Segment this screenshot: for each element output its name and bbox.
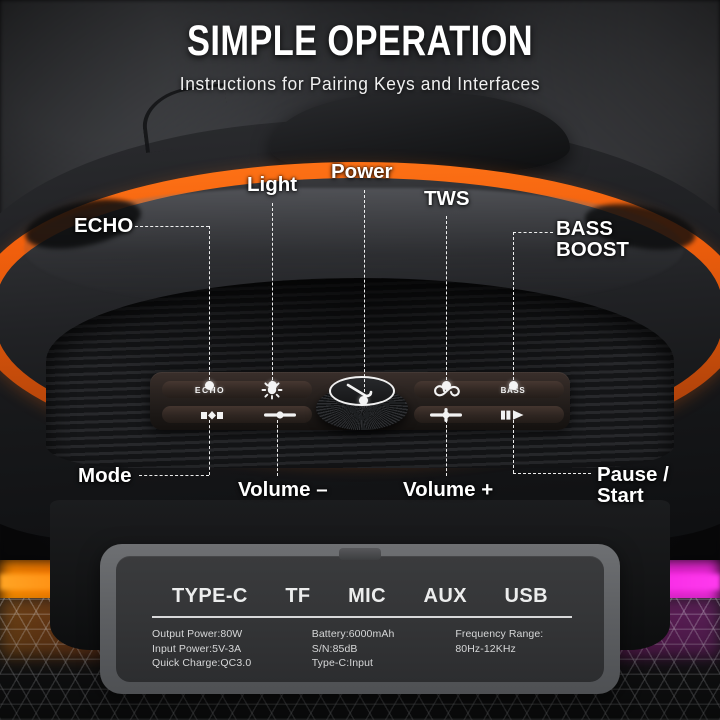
port-label-row: TYPE-C TF MIC AUX USB <box>126 580 594 612</box>
spec-columns: Output Power:80W Input Power:5V-3A Quick… <box>152 628 572 676</box>
callout-volume-down: Volume – <box>238 479 328 500</box>
spec-panel-tab <box>339 548 381 560</box>
leader-mode-v <box>209 420 210 475</box>
leader-light-v <box>272 203 273 385</box>
callout-light: Light <box>247 174 297 195</box>
spec-line: Type-C:Input <box>312 657 456 671</box>
infographic-canvas: SIMPLE OPERATION Instructions for Pairin… <box>0 0 720 720</box>
header: SIMPLE OPERATION Instructions for Pairin… <box>0 18 720 95</box>
spec-line: Input Power:5V-3A <box>152 643 312 657</box>
spec-line: Quick Charge:QC3.0 <box>152 657 312 671</box>
port-label-usb: USB <box>505 585 548 608</box>
volume-down-button[interactable] <box>262 406 298 424</box>
leader-dot-light <box>268 381 277 390</box>
leader-dot-tws <box>442 381 451 390</box>
leader-echo-h <box>135 226 209 227</box>
leader-dot-power <box>359 396 368 405</box>
spec-line: 80Hz-12KHz <box>455 643 572 657</box>
leader-tws-v <box>446 216 447 385</box>
leader-volume-down-v <box>277 420 278 476</box>
callout-tws: TWS <box>424 188 470 209</box>
leader-echo-v <box>209 226 210 385</box>
mode-button[interactable] <box>198 406 226 424</box>
leader-mode-h <box>139 475 209 476</box>
leader-pause-v <box>513 420 514 473</box>
leader-dot-bass <box>509 381 518 390</box>
leader-bass-v <box>513 232 514 385</box>
leader-dot-echo <box>205 381 214 390</box>
spec-line: Frequency Range: <box>455 628 572 642</box>
spec-column-3: Frequency Range: 80Hz-12KHz <box>455 628 572 676</box>
spec-line: S/N:85dB <box>312 643 456 657</box>
port-label-tf: TF <box>285 585 310 608</box>
callout-bass-boost: BASS BOOST <box>556 218 629 260</box>
callout-volume-up: Volume + <box>403 479 493 500</box>
callout-echo: ECHO <box>74 215 133 236</box>
spec-column-2: Battery:6000mAh S/N:85dB Type-C:Input <box>312 628 456 676</box>
leader-power-v <box>364 190 365 402</box>
spec-line: Battery:6000mAh <box>312 628 456 642</box>
spec-line: Output Power:80W <box>152 628 312 642</box>
leader-pause-h <box>513 473 591 474</box>
port-label-aux: AUX <box>424 585 467 608</box>
page-subtitle: Instructions for Pairing Keys and Interf… <box>22 73 699 95</box>
mode-icon <box>199 407 225 423</box>
callout-power: Power <box>331 161 393 182</box>
spec-divider <box>152 616 572 618</box>
minus-icon <box>263 408 297 422</box>
port-label-type-c: TYPE-C <box>172 585 248 608</box>
callout-mode: Mode <box>78 465 132 486</box>
spec-column-1: Output Power:80W Input Power:5V-3A Quick… <box>152 628 312 676</box>
leader-volume-up-v <box>446 420 447 476</box>
leader-bass-h <box>513 232 553 233</box>
callout-pause-start: Pause / Start <box>597 464 720 506</box>
port-label-mic: MIC <box>348 585 386 608</box>
page-title: SIMPLE OPERATION <box>72 18 648 64</box>
